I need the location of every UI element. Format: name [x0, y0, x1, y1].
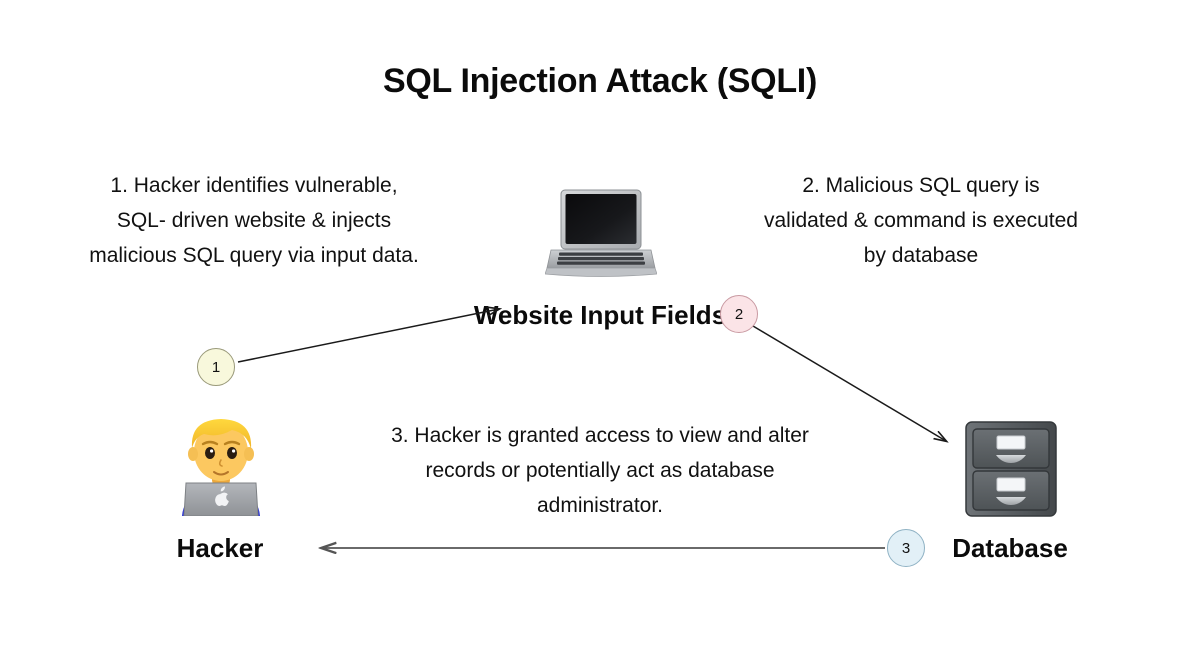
- node-label-website-input-fields: Website Input Fields: [470, 298, 730, 332]
- file-cabinet-icon: [960, 418, 1062, 520]
- node-label-hacker: Hacker: [130, 531, 310, 565]
- step-badge-1[interactable]: 1: [197, 348, 235, 386]
- page-title: SQL Injection Attack (SQLI): [0, 62, 1200, 101]
- step-2-description: 2. Malicious SQL query is validated & co…: [758, 168, 1084, 273]
- step-badge-2[interactable]: 2: [720, 295, 758, 333]
- man-technologist-icon: [168, 412, 274, 516]
- diagram-canvas: SQL Injection Attack (SQLI) 1. Hacker id…: [0, 0, 1200, 660]
- step-badge-3[interactable]: 3: [887, 529, 925, 567]
- arrow-1-hacker-to-website: [238, 309, 499, 362]
- step-3-description: 3. Hacker is granted access to view and …: [372, 418, 828, 523]
- step-1-description: 1. Hacker identifies vulnerable, SQL- dr…: [84, 168, 424, 273]
- laptop-icon: [545, 188, 657, 280]
- node-label-database: Database: [920, 531, 1100, 565]
